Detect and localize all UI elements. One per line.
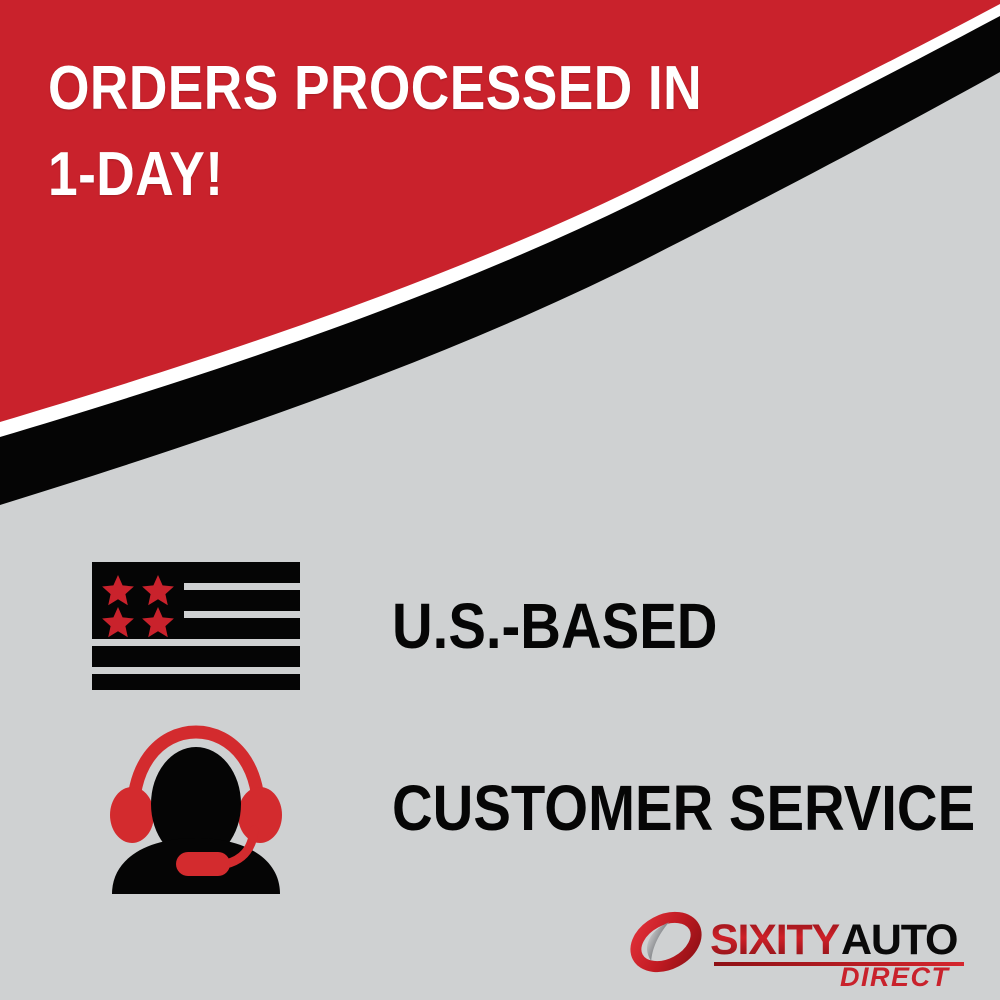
headline: ORDERS PROCESSED IN 1-DAY!	[48, 46, 808, 218]
headset-earcup-left	[110, 787, 154, 843]
headset-mic	[176, 852, 230, 876]
logo-ellipse-mark	[628, 908, 705, 977]
promo-graphic: ORDERS PROCESSED IN 1-DAY! U.S.-BASED	[0, 0, 1000, 1000]
us-flag-icon	[92, 562, 300, 690]
headline-line-2: 1-DAY!	[48, 132, 702, 218]
logo-word-auto: AUTO	[841, 916, 957, 964]
headset-agent-icon	[92, 722, 300, 894]
feature-label-customer-service: CUSTOMER SERVICE	[392, 771, 975, 845]
feature-row-customer-service: CUSTOMER SERVICE	[92, 718, 972, 898]
feature-row-us-based: U.S.-BASED	[92, 556, 972, 696]
sixity-auto-direct-logo: SIXITY AUTO DIRECT	[628, 902, 978, 988]
headset-earcup-right	[238, 787, 282, 843]
logo-word-sixity: SIXITY	[710, 916, 840, 964]
feature-label-us-based: U.S.-BASED	[392, 589, 902, 663]
headline-line-1: ORDERS PROCESSED IN	[48, 46, 702, 132]
logo-word-direct: DIRECT	[840, 962, 951, 988]
brand-logo: SIXITY AUTO DIRECT	[628, 902, 978, 988]
